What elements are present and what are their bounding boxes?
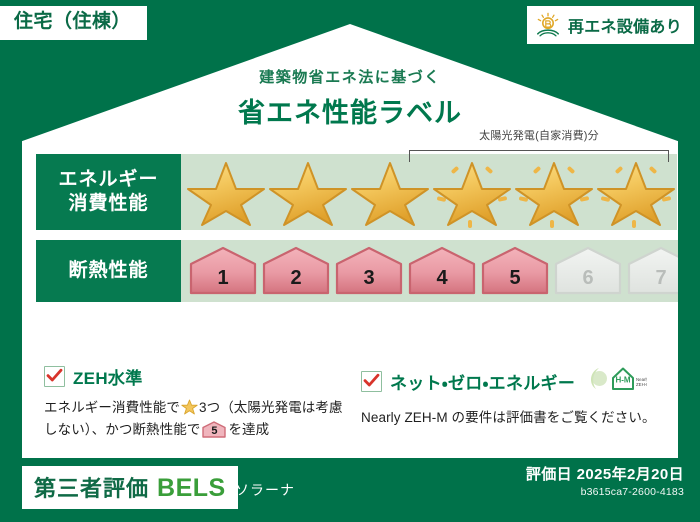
- energy-performance-row: エネルギー 消費性能 太陽光発電(自家消費)分: [36, 154, 664, 230]
- grade-badge-3: 3: [335, 246, 403, 296]
- note-zeh-text-3: を達成: [228, 422, 269, 437]
- renewable-equipment-badge: 再エネ設備あり: [527, 6, 694, 44]
- grade-badge-1: 1: [189, 246, 257, 296]
- insulation-label-text: 断熱性能: [68, 259, 148, 283]
- note-zeh-text-1: エネルギー消費性能で: [44, 400, 180, 415]
- solar-sun-icon: [535, 12, 561, 38]
- star-icon-solar: [513, 156, 595, 228]
- footer-meta: 評価日 2025年2月20日 b3615ca7-2600-4183: [526, 464, 684, 498]
- check-icon: [361, 371, 382, 392]
- grade-number: 2: [262, 268, 330, 288]
- bels-logo-text: BELS: [157, 474, 226, 503]
- grade-number: 4: [408, 268, 476, 288]
- note-zeh-title: ZEH水準: [73, 364, 143, 389]
- renewable-badge-label: 再エネ設備あり: [568, 13, 682, 37]
- note-zeh-header: ZEH水準: [44, 364, 343, 389]
- note-nze-title: ネット・ゼロ・エネルギー: [390, 369, 575, 394]
- star-icon-solar: [595, 156, 677, 228]
- grade-badge-5: 5: [481, 246, 549, 296]
- star-icon: [349, 156, 431, 228]
- bels-certification-badge: 第三者評価 BELS: [22, 466, 238, 509]
- grade-number: 7: [627, 268, 695, 288]
- grade-badge-inline: 5: [202, 421, 226, 438]
- brand-name: ソラーナ: [235, 480, 295, 500]
- grade-badge-6: 6: [554, 246, 622, 296]
- insulation-performance-row: 断熱性能: [36, 240, 664, 302]
- star-icon: [267, 156, 349, 228]
- grade-badge-7: 7: [627, 246, 695, 296]
- note-net-zero-energy: ネット・ゼロ・エネルギー H-M Nearly ZEH-M: [361, 364, 660, 442]
- insulation-performance-label: 断熱性能: [36, 240, 181, 302]
- note-zeh-standard: ZEH水準 エネルギー消費性能で3つ（太陽光発電は考慮しない）、かつ断熱性能で5…: [44, 364, 343, 442]
- svg-text:H-M: H-M: [616, 376, 631, 385]
- title-subtitle: 建築物省エネ法に基づく: [22, 66, 678, 87]
- energy-rating-body: 太陽光発電(自家消費)分: [181, 154, 677, 230]
- title-block: 建築物省エネ法に基づく 省エネ性能ラベル: [22, 66, 678, 130]
- grade-badge-4: 4: [408, 246, 476, 296]
- label-card: 建築物省エネ法に基づく 省エネ性能ラベル エネルギー 消費性能 太陽光発電(自家…: [22, 24, 678, 458]
- third-party-eval-label: 第三者評価: [34, 471, 149, 503]
- performance-rows: エネルギー 消費性能 太陽光発電(自家消費)分: [36, 154, 664, 312]
- energy-label-line1: エネルギー: [58, 168, 158, 192]
- star-icon-inline: [181, 399, 198, 415]
- svg-text:ZEH-M: ZEH-M: [636, 382, 647, 387]
- star-icon: [185, 156, 267, 228]
- grade-number: 6: [554, 268, 622, 288]
- energy-label-line2: 消費性能: [68, 192, 148, 216]
- insulation-rating-body: 1 2: [181, 240, 695, 302]
- star-icon-solar: [431, 156, 513, 228]
- house-type-badge: 住宅（住棟）: [0, 6, 147, 40]
- note-nze-body: Nearly ZEH-M の要件は評価書をご覧ください。: [361, 407, 660, 429]
- grade-number: 3: [335, 268, 403, 288]
- grade-scale: 1 2: [189, 246, 695, 296]
- house-type-label: 住宅（住棟）: [14, 11, 131, 32]
- star-rating: [185, 156, 677, 228]
- evaluation-id: b3615ca7-2600-4183: [526, 486, 684, 498]
- energy-performance-label: エネルギー 消費性能: [36, 154, 181, 230]
- energy-performance-label: 住宅（住棟） 再エネ設備あり 建築物省エネ法: [0, 0, 700, 522]
- note-zeh-body: エネルギー消費性能で3つ（太陽光発電は考慮しない）、かつ断熱性能で5を達成: [44, 397, 343, 442]
- grade-number: 5: [481, 268, 549, 288]
- grade-badge-inline-number: 5: [202, 426, 226, 437]
- note-nze-header: ネット・ゼロ・エネルギー H-M Nearly ZEH-M: [361, 364, 660, 399]
- footer: 第三者評価 BELS ソラーナ 評価日 2025年2月20日 b3615ca7-…: [0, 458, 700, 522]
- notes-section: ZEH水準 エネルギー消費性能で3つ（太陽光発電は考慮しない）、かつ断熱性能で5…: [44, 364, 660, 442]
- nearly-zeh-m-logo: H-M Nearly ZEH-M: [585, 364, 647, 399]
- check-icon: [44, 366, 65, 387]
- evaluation-date: 評価日 2025年2月20日: [526, 464, 684, 485]
- page-title: 省エネ性能ラベル: [22, 91, 678, 130]
- grade-badge-2: 2: [262, 246, 330, 296]
- grade-number: 1: [189, 268, 257, 288]
